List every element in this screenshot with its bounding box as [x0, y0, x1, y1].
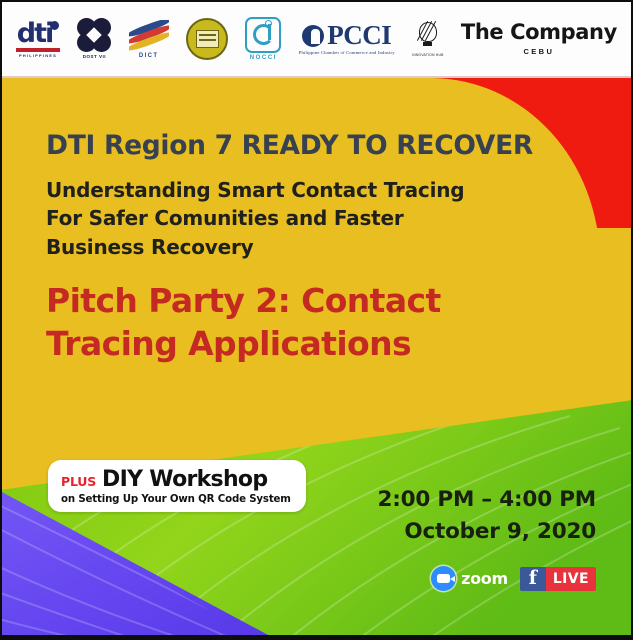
diy-plus-label: PLUS	[61, 474, 96, 489]
lightbulb-icon	[415, 20, 441, 52]
subtitle-block: Understanding Smart Contact Tracing For …	[46, 176, 464, 261]
dti-wordmark: dti	[17, 20, 60, 47]
nocci-logo: NOCCI	[245, 17, 281, 61]
subtitle-line-2: For Safer Comunities and Faster	[46, 204, 464, 232]
dti-philippines-logo: dti PHILIPPINES	[16, 20, 60, 58]
the-company-wordmark: The Company	[461, 22, 617, 43]
subtitle-line-3: Business Recovery	[46, 233, 464, 261]
dost-vii-logo: DOST VII	[77, 18, 111, 60]
event-poster: dti PHILIPPINES DOST VII DICT	[0, 0, 633, 640]
diy-workshop-badge: PLUS DIY Workshop on Setting Up Your Own…	[48, 460, 306, 512]
subtitle-line-1: Understanding Smart Contact Tracing	[46, 176, 464, 204]
event-title-line-2: Tracing Applications	[46, 323, 441, 366]
broadcast-platforms: zoom f LIVE	[431, 566, 596, 591]
event-title-block: Pitch Party 2: Contact Tracing Applicati…	[46, 280, 441, 366]
dti-subtitle: PHILIPPINES	[19, 54, 57, 58]
frame-edge-left	[0, 0, 2, 640]
bulb-subtitle: INNOVATION HUB	[412, 54, 444, 57]
page-title: DTI Region 7 READY TO RECOVER	[46, 130, 533, 161]
pcci-wordmark: PCCI	[327, 22, 391, 49]
diy-workshop-title: DIY Workshop	[102, 467, 267, 492]
pcci-pillar-icon	[302, 25, 324, 47]
event-date: October 9, 2020	[377, 519, 596, 544]
event-schedule: 2:00 PM – 4:00 PM October 9, 2020	[377, 487, 596, 544]
dict-logo: DICT	[129, 20, 169, 59]
dost-petal-icon	[77, 18, 111, 52]
seal-icon	[186, 18, 228, 60]
poster-content: DTI Region 7 READY TO RECOVER Understand…	[0, 78, 633, 636]
facebook-live-badge: f LIVE	[520, 567, 596, 591]
event-time: 2:00 PM – 4:00 PM	[377, 487, 596, 512]
nocci-monogram-icon	[245, 17, 281, 53]
dict-subtitle: DICT	[139, 53, 159, 59]
sponsor-logo-band: dti PHILIPPINES DOST VII DICT	[0, 0, 633, 78]
bulb-pen-logo: INNOVATION HUB	[412, 20, 444, 57]
the-company-cebu-logo: The Company CEBU	[461, 22, 617, 56]
event-title-line-1: Pitch Party 2: Contact	[46, 280, 441, 323]
facebook-live-label: LIVE	[546, 567, 596, 591]
dict-swoosh-icon	[129, 20, 169, 52]
pcci-subtitle: Philippine Chamber of Commerce and Indus…	[299, 51, 395, 56]
zoom-badge: zoom	[431, 566, 508, 591]
dti-dot-icon	[50, 21, 59, 30]
the-company-subtitle: CEBU	[523, 48, 554, 56]
facebook-icon: f	[520, 567, 546, 591]
frame-edge-bottom	[0, 635, 633, 640]
zoom-label: zoom	[461, 569, 508, 588]
dost-subtitle: DOST VII	[83, 55, 106, 60]
pcci-logo: PCCI Philippine Chamber of Commerce and …	[299, 22, 395, 56]
video-camera-icon	[431, 566, 456, 591]
diy-workshop-subtitle: on Setting Up Your Own QR Code System	[61, 494, 291, 505]
government-seal-logo	[186, 18, 228, 60]
frame-edge-top	[0, 0, 633, 2]
nocci-subtitle: NOCCI	[250, 55, 277, 61]
